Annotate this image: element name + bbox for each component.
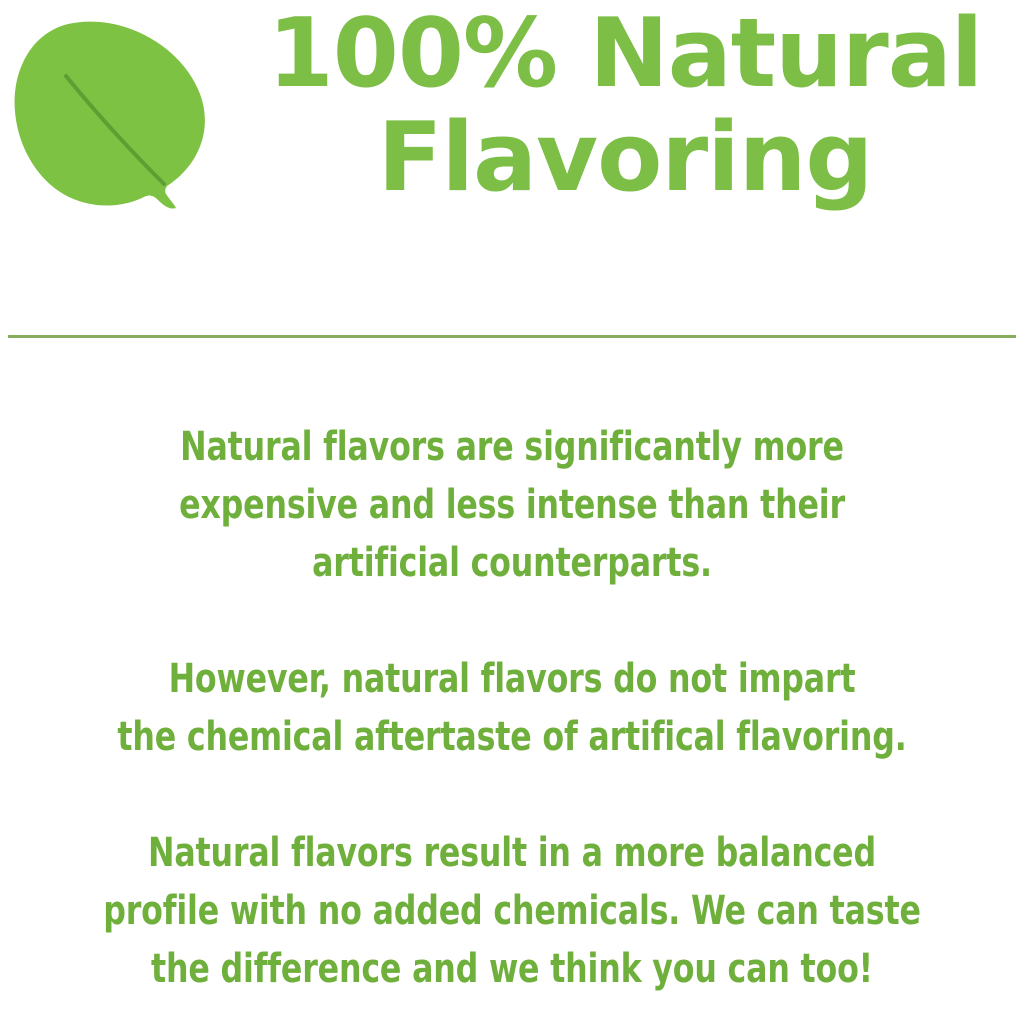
paragraph-2-line-2: the chemical aftertaste of artifical fla… xyxy=(61,708,962,766)
header-divider xyxy=(8,335,1016,338)
body-copy: Natural flavors are significantly more e… xyxy=(0,418,1024,998)
paragraph-3: Natural flavors result in a more balance… xyxy=(61,824,962,998)
paragraph-1-line-3: artificial counterparts. xyxy=(61,534,962,592)
poster-header: 100% Natural Flavoring xyxy=(0,0,1024,330)
natural-flavoring-poster: 100% Natural Flavoring Natural flavors a… xyxy=(0,0,1024,1024)
paragraph-2-line-1: However, natural flavors do not impart xyxy=(61,650,962,708)
paragraph-3-line-2: profile with no added chemicals. We can … xyxy=(61,882,962,940)
leaf-icon xyxy=(4,8,222,220)
paragraph-3-line-1: Natural flavors result in a more balance… xyxy=(61,824,962,882)
paragraph-1-line-2: expensive and less intense than their xyxy=(61,476,962,534)
paragraph-3-line-3: the difference and we think you can too! xyxy=(61,940,962,998)
paragraph-1: Natural flavors are significantly more e… xyxy=(61,418,962,592)
title-line-1: 100% Natural xyxy=(234,2,1016,106)
title-line-2: Flavoring xyxy=(234,106,1016,210)
page-title: 100% Natural Flavoring xyxy=(234,2,1016,210)
paragraph-2: However, natural flavors do not impart t… xyxy=(61,650,962,766)
paragraph-1-line-1: Natural flavors are significantly more xyxy=(61,418,962,476)
